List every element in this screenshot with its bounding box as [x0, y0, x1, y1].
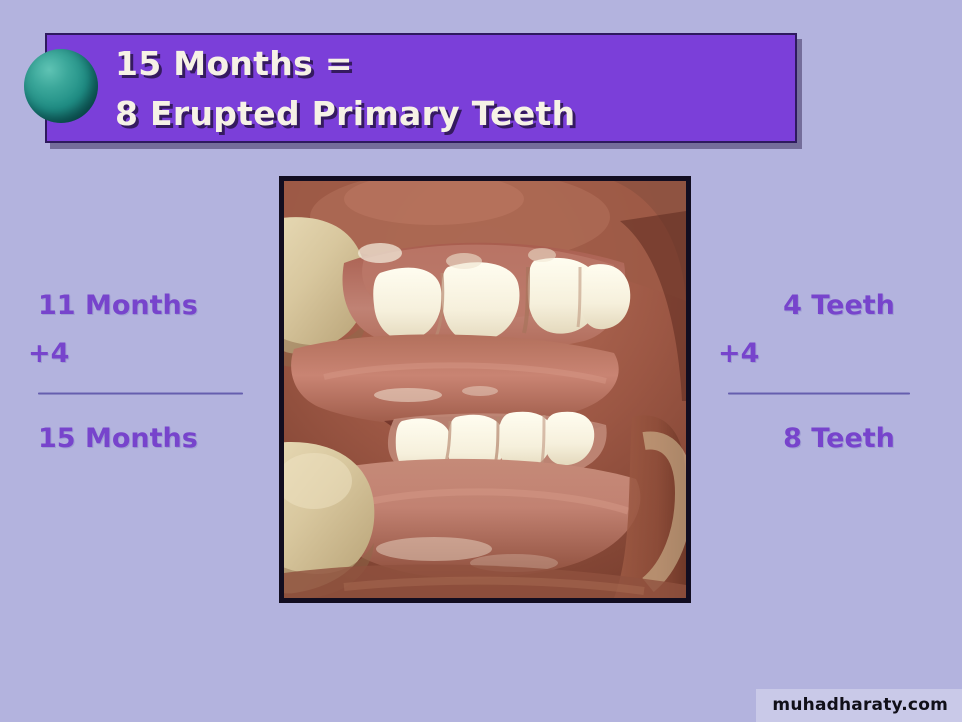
months-line-1: 11 Months [28, 282, 288, 330]
teeth-calculation: 4 Teeth +4 8 Teeth [718, 282, 962, 463]
sphere-bullet-icon [24, 49, 98, 123]
page-title: 15 Months = 8 Erupted Primary Teeth [115, 39, 775, 139]
months-line-2: +4 [28, 330, 288, 378]
clinical-photo-image [284, 181, 686, 598]
title-banner: 15 Months = 8 Erupted Primary Teeth [45, 33, 797, 143]
watermark: muhadharaty.com [756, 689, 962, 722]
months-calculation: 11 Months +4 15 Months [28, 282, 288, 463]
slide-canvas: 15 Months = 8 Erupted Primary Teeth [0, 0, 962, 722]
months-divider [38, 392, 243, 395]
teeth-line-2: +4 [718, 330, 962, 378]
months-result: 15 Months [28, 415, 288, 463]
clinical-photo [279, 176, 691, 603]
teeth-divider [728, 392, 910, 395]
teeth-line-1: 4 Teeth [718, 282, 962, 330]
teeth-result: 8 Teeth [718, 415, 962, 463]
